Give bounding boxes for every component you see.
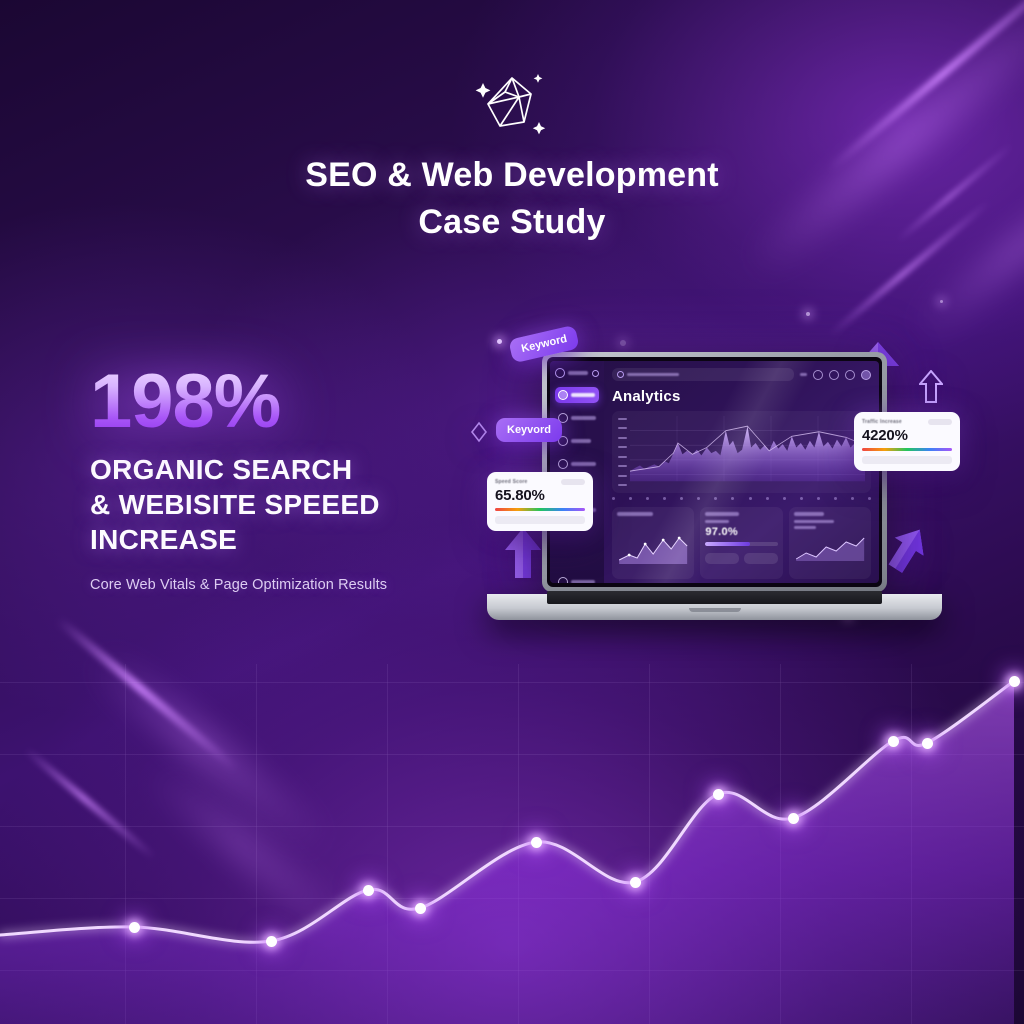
floating-card-gradient-bar — [495, 508, 585, 511]
card-title — [617, 512, 653, 516]
speed-score-floating-card[interactable]: Speed Score 65.80% — [487, 472, 593, 531]
search-input[interactable] — [612, 368, 794, 381]
chart-data-point — [713, 789, 724, 800]
traffic-growth-floating-card[interactable]: Traffic Increase 4220% — [854, 412, 960, 471]
sparkle-dot — [497, 339, 502, 344]
chart-data-point — [129, 922, 140, 933]
floating-card-label: Speed Score — [495, 479, 528, 485]
up-arrow-3d-icon — [888, 524, 926, 576]
avatar-icon[interactable] — [861, 370, 871, 380]
area-chart-svg — [630, 416, 865, 488]
sidebar-item-label — [571, 580, 595, 583]
brand-logo — [0, 68, 1024, 148]
sidebar-item-label — [571, 439, 591, 443]
keyword-badge-label: Keyword — [520, 333, 568, 355]
card-caption — [705, 520, 729, 523]
card-caption — [794, 526, 816, 529]
chart-data-point — [415, 903, 426, 914]
sidebar-logo-label — [568, 371, 588, 375]
keyword-badge-left[interactable]: Keyvord — [496, 418, 562, 442]
stat-headline: ORGANIC SEARCH & WEBISITE SPEEED INCREAS… — [90, 452, 520, 557]
chart-data-point — [888, 736, 899, 747]
stat-headline-line-3: INCREASE — [90, 522, 520, 557]
dashboard-cards-row: 97.0% — [612, 507, 871, 579]
card-button-secondary[interactable] — [744, 553, 778, 564]
chart-data-point — [630, 877, 641, 888]
more-icon[interactable] — [800, 373, 807, 376]
floating-card-value: 65.80% — [495, 487, 585, 504]
card-progress-bar — [705, 542, 777, 546]
floating-card-label: Traffic Increase — [862, 419, 902, 425]
laptop-base — [487, 594, 942, 620]
chart-data-point — [266, 936, 277, 947]
growth-line-chart — [0, 624, 1024, 1024]
area-chart-plot — [630, 416, 865, 488]
laptop-bezel: Analytics — [547, 357, 882, 587]
analytics-area-chart — [612, 411, 871, 493]
laptop-trackpad-notch — [689, 608, 741, 612]
dashboard-screen: Analytics — [550, 361, 879, 583]
card-buttons — [705, 553, 777, 564]
sparkle-dot — [620, 340, 626, 346]
sidebar-logo — [555, 368, 599, 378]
floating-card-chip — [928, 419, 952, 425]
stat-block: 198% ORGANIC SEARCH & WEBISITE SPEEED IN… — [90, 362, 520, 593]
card-caption — [794, 520, 834, 523]
card-title — [794, 512, 824, 516]
search-placeholder — [627, 373, 679, 376]
page-title: SEO & Web Development Case Study — [0, 152, 1024, 246]
chart-data-point — [1009, 676, 1020, 687]
title-line-1: SEO & Web Development — [0, 152, 1024, 199]
title-line-2: Case Study — [0, 199, 1024, 246]
bell-icon[interactable] — [829, 370, 839, 380]
sidebar-item-overview[interactable] — [555, 387, 599, 403]
x-axis-ticks — [612, 493, 871, 501]
mini-line-chart — [794, 533, 866, 563]
dashboard-main: Analytics — [604, 361, 879, 583]
dashboard-topbar — [612, 368, 871, 381]
sidebar-item-label — [571, 462, 596, 466]
mini-area-chart — [617, 522, 689, 566]
card-title — [705, 512, 739, 516]
up-arrow-3d-icon — [919, 370, 943, 404]
sidebar-item-settings[interactable] — [555, 574, 599, 583]
stat-subtitle: Core Web Vitals & Page Optimization Resu… — [90, 577, 520, 593]
card-button-primary[interactable] — [705, 553, 739, 564]
search-icon — [617, 371, 624, 378]
app-logo-icon — [555, 368, 565, 378]
dashboard-title: Analytics — [612, 388, 871, 405]
floating-card-value: 4220% — [862, 427, 952, 444]
chart-data-point — [922, 738, 933, 749]
collapse-icon — [592, 370, 599, 377]
settings-icon[interactable] — [845, 370, 855, 380]
sidebar-item-label — [571, 393, 595, 397]
laptop-lid: Analytics — [542, 352, 887, 592]
chart-data-point — [363, 885, 374, 896]
overview-icon — [558, 390, 568, 400]
sparkle-dot — [940, 300, 943, 303]
backlinks-icon — [558, 459, 568, 469]
poster-canvas: SEO & Web Development Case Study 198% OR… — [0, 0, 1024, 1024]
stat-headline-line-1: ORGANIC SEARCH — [90, 452, 520, 487]
card-value: 97.0% — [705, 526, 777, 538]
stat-number: 198% — [90, 362, 520, 442]
stat-headline-line-2: & WEBISITE SPEEED — [90, 487, 520, 522]
refresh-icon[interactable] — [813, 370, 823, 380]
speed-score-card[interactable]: 97.0% — [700, 507, 782, 579]
keyword-badge-label: Keyvord — [507, 424, 551, 436]
up-arrow-3d-icon — [503, 526, 543, 582]
keyword-ranking-card[interactable] — [612, 507, 694, 579]
floating-card-gradient-bar — [862, 448, 952, 451]
floating-card-row — [495, 516, 585, 524]
y-axis-ticks — [618, 416, 630, 488]
organic-traffic-card[interactable] — [789, 507, 871, 579]
floating-card-row — [862, 456, 952, 464]
sparkle-dot — [806, 312, 810, 316]
growth-chart-svg — [0, 624, 1024, 1024]
gear-icon — [558, 577, 568, 583]
sidebar-item-backlinks[interactable] — [555, 456, 599, 472]
laptop-keyboard — [547, 591, 882, 604]
diamond-gem-icon — [469, 68, 555, 148]
floating-card-chip — [561, 479, 585, 485]
chart-data-point — [788, 813, 799, 824]
chart-data-point — [531, 837, 542, 848]
sidebar-item-label — [571, 416, 596, 420]
